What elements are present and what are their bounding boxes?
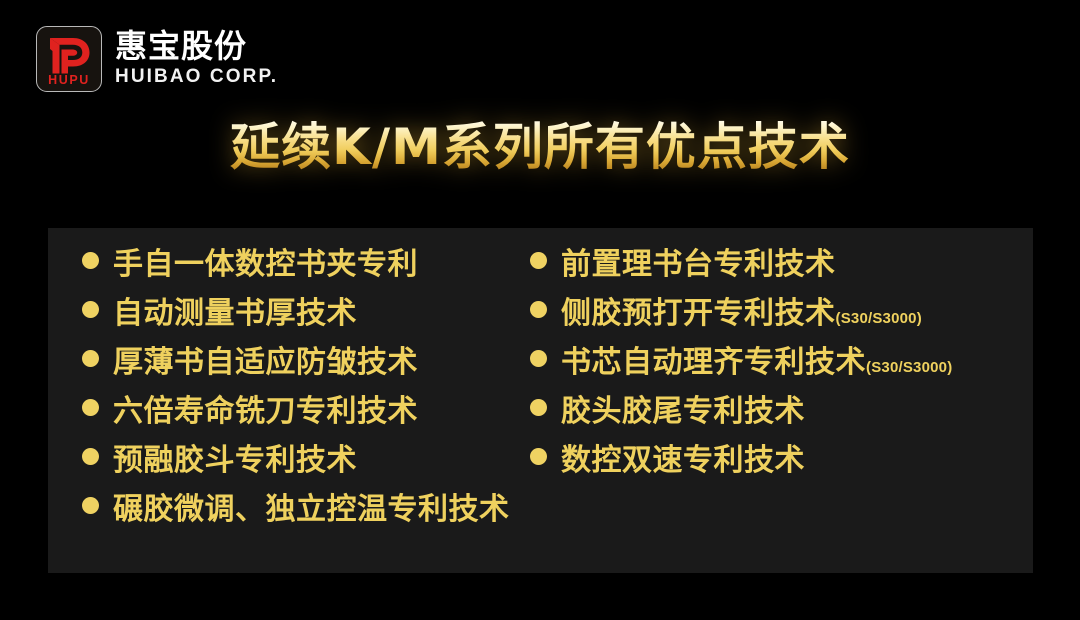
bullet-dot-icon <box>82 497 99 514</box>
bullet-dot-icon <box>530 350 547 367</box>
brand-header: HUPU 惠宝股份 HUIBAO CORP. <box>36 26 278 92</box>
logo-wordmark: HUPU <box>37 74 101 87</box>
list-item: 侧胶预打开专利技术 (S30/S3000) <box>530 299 988 330</box>
list-item: 碾胶微调、独立控温专利技术 <box>82 495 518 526</box>
bullet-dot-icon <box>530 252 547 269</box>
feature-panel: 手自一体数控书夹专利 自动测量书厚技术 厚薄书自适应防皱技术 六倍寿命铣刀专利技… <box>48 228 1033 573</box>
list-item-label: 前置理书台专利技术 <box>561 250 836 280</box>
list-item: 书芯自动理齐专利技术 (S30/S3000) <box>530 348 988 379</box>
list-item-label: 自动测量书厚技术 <box>113 299 357 329</box>
bullet-dot-icon <box>82 350 99 367</box>
bullet-dot-icon <box>530 448 547 465</box>
list-item-label: 侧胶预打开专利技术 <box>561 299 836 329</box>
list-item-label: 书芯自动理齐专利技术 <box>561 348 866 378</box>
list-item: 手自一体数控书夹专利 <box>82 250 518 281</box>
list-item-label: 胶头胶尾专利技术 <box>561 397 805 427</box>
bullet-dot-icon <box>530 399 547 416</box>
list-item-note: (S30/S3000) <box>836 311 922 326</box>
bullet-dot-icon <box>82 399 99 416</box>
list-item-note: (S30/S3000) <box>866 360 952 375</box>
list-item: 厚薄书自适应防皱技术 <box>82 348 518 379</box>
bullet-dot-icon <box>530 301 547 318</box>
list-item: 六倍寿命铣刀专利技术 <box>82 397 518 428</box>
list-item-label: 六倍寿命铣刀专利技术 <box>113 397 418 427</box>
company-name-en: HUIBAO CORP. <box>115 66 278 88</box>
list-item-label: 碾胶微调、独立控温专利技术 <box>113 495 510 525</box>
page-title: 延续K/M系列所有优点技术 <box>0 119 1080 175</box>
list-item: 自动测量书厚技术 <box>82 299 518 330</box>
hupu-p-logo-icon: HUPU <box>36 26 102 92</box>
bullet-dot-icon <box>82 301 99 318</box>
list-item: 预融胶斗专利技术 <box>82 446 518 477</box>
list-item: 前置理书台专利技术 <box>530 250 988 281</box>
list-item-label: 数控双速专利技术 <box>561 446 805 476</box>
company-name-cn: 惠宝股份 <box>115 29 278 64</box>
bullet-dot-icon <box>82 448 99 465</box>
feature-column-right: 前置理书台专利技术 侧胶预打开专利技术 (S30/S3000) 书芯自动理齐专利… <box>518 250 988 573</box>
list-item-label: 预融胶斗专利技术 <box>113 446 357 476</box>
list-item: 数控双速专利技术 <box>530 446 988 477</box>
list-item-label: 手自一体数控书夹专利 <box>113 250 418 280</box>
bullet-dot-icon <box>82 252 99 269</box>
list-item: 胶头胶尾专利技术 <box>530 397 988 428</box>
list-item-label: 厚薄书自适应防皱技术 <box>113 348 418 378</box>
brand-text-block: 惠宝股份 HUIBAO CORP. <box>115 29 278 88</box>
feature-column-left: 手自一体数控书夹专利 自动测量书厚技术 厚薄书自适应防皱技术 六倍寿命铣刀专利技… <box>48 250 518 573</box>
